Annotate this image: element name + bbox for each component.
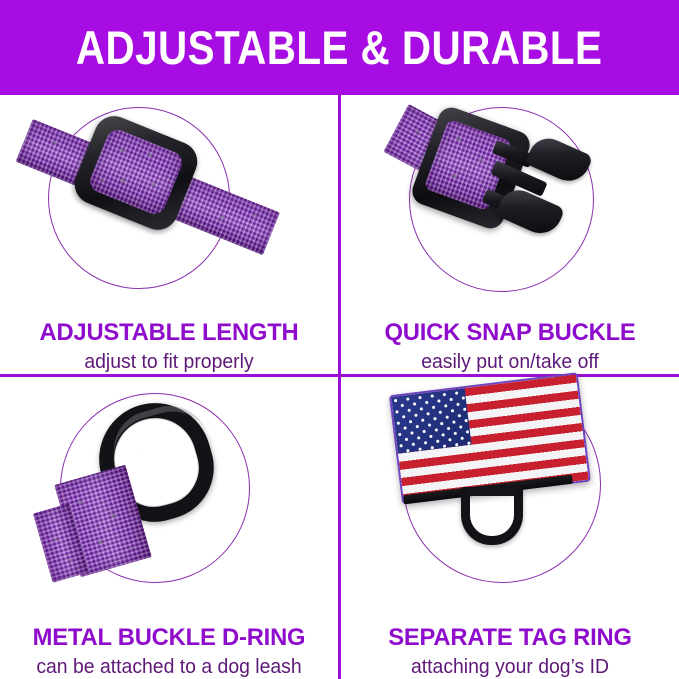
caption-title: ADJUSTABLE LENGTH xyxy=(5,319,333,346)
flag-stars xyxy=(391,388,471,454)
caption-quick-snap-buckle: QUICK SNAP BUCKLE easily put on/take off xyxy=(341,319,679,374)
caption-metal-buckle-d-ring: METAL BUCKLE D-RING can be attached to a… xyxy=(0,624,338,679)
photo-metal-buckle-d-ring xyxy=(0,377,338,624)
caption-title: METAL BUCKLE D-RING xyxy=(5,624,333,651)
header-banner: ADJUSTABLE & DURABLE xyxy=(0,0,679,95)
flag-canton xyxy=(391,388,471,454)
photo-quick-snap-buckle xyxy=(341,95,679,319)
caption-subtitle: adjust to fit properly xyxy=(5,350,333,374)
tag-ring xyxy=(461,489,523,545)
feature-panel-separate-tag-ring: SEPARATE TAG RING attaching your dog’s I… xyxy=(341,377,679,679)
photo-separate-tag-ring xyxy=(341,377,679,624)
caption-separate-tag-ring: SEPARATE TAG RING attaching your dog’s I… xyxy=(341,624,679,679)
feature-panel-adjustable-length: ADJUSTABLE LENGTH adjust to fit properly xyxy=(0,95,338,374)
product-feature-infographic: ADJUSTABLE & DURABLE xyxy=(0,0,679,679)
caption-subtitle: easily put on/take off xyxy=(346,350,674,374)
caption-title: QUICK SNAP BUCKLE xyxy=(346,319,674,346)
feature-panel-metal-buckle-d-ring: METAL BUCKLE D-RING can be attached to a… xyxy=(0,377,338,679)
page-title: ADJUSTABLE & DURABLE xyxy=(76,24,603,71)
caption-subtitle: attaching your dog’s ID xyxy=(346,655,674,679)
caption-subtitle: can be attached to a dog leash xyxy=(5,655,333,679)
feature-panel-quick-snap-buckle: QUICK SNAP BUCKLE easily put on/take off xyxy=(341,95,679,374)
caption-title: SEPARATE TAG RING xyxy=(346,624,674,651)
photo-adjustable-length xyxy=(0,95,338,319)
slider-buckle-illustration xyxy=(0,95,338,287)
caption-adjustable-length: ADJUSTABLE LENGTH adjust to fit properly xyxy=(0,319,338,374)
